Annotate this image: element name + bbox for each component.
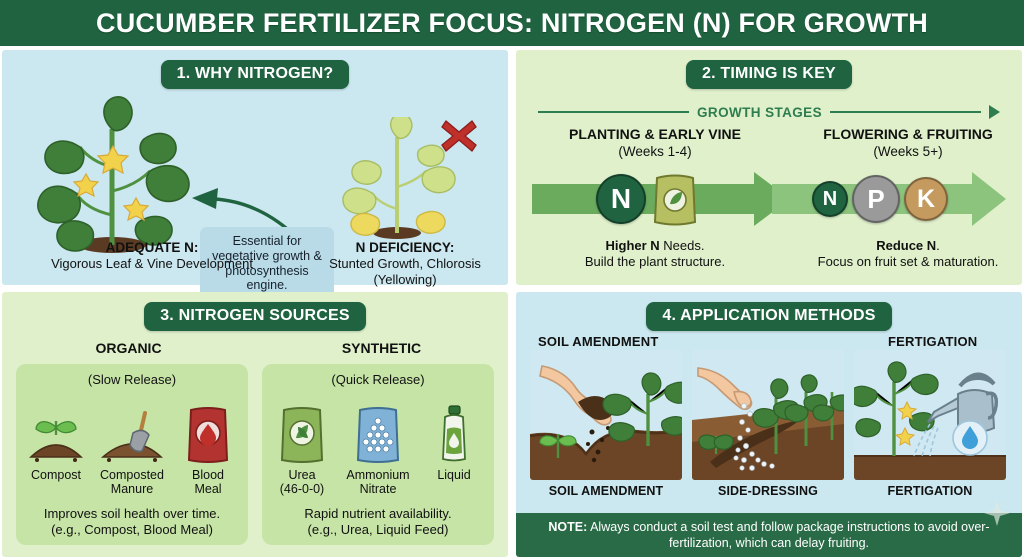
watering-can-fertigation-icon — [854, 350, 1006, 480]
organic-icon-cell-compost — [22, 405, 90, 463]
source-box-organic: (Slow Release) — [16, 364, 248, 545]
nutrient-circle-n-late: N — [812, 181, 848, 217]
red-x-icon — [440, 117, 478, 155]
panel4-heading: 4. APPLICATION METHODS — [646, 302, 891, 331]
organic-label-bloodmeal-sub: Meal — [174, 482, 242, 496]
panel4-heading-wrap: 4. APPLICATION METHODS — [516, 302, 1022, 331]
stage-heading-flowering: FLOWERING & FRUITING (Weeks 5+) — [794, 126, 1022, 160]
organic-label-bloodmeal-main: Blood — [174, 468, 242, 482]
organic-label-manure-sub: Manure — [98, 482, 166, 496]
caption-n-deficiency: N DEFICIENCY: Stunted Growth, Chlorosis … — [302, 240, 508, 287]
synthetic-note-line1: Rapid nutrient availability. — [268, 506, 488, 522]
source-boxes: (Slow Release) — [16, 364, 494, 545]
synthetic-icon-cell-liquid — [420, 405, 488, 463]
method-card-fertigation — [854, 350, 1006, 480]
footnote-early-bold: Higher N — [606, 238, 660, 253]
synthetic-label-ammonium: Ammonium Nitrate — [344, 468, 412, 497]
title-bar: CUCUMBER FERTILIZER FOCUS: NITROGEN (N) … — [0, 0, 1024, 46]
source-heading-synthetic: SYNTHETIC — [255, 340, 508, 357]
organic-icon-row — [22, 391, 242, 463]
organic-note-line2: (e.g., Compost, Blood Meal) — [22, 522, 242, 538]
note-text: NOTE: Always conduct a soil test and fol… — [526, 519, 1012, 551]
organic-label-manure-main: Composted — [98, 468, 166, 482]
panel-nitrogen-sources: 3. NITROGEN SOURCES ORGANIC SYNTHETIC (S… — [2, 292, 508, 557]
organic-label-compost: Compost — [22, 468, 90, 497]
nutrient-circle-n-early: N — [596, 174, 646, 224]
synthetic-note-line2: (e.g., Urea, Liquid Feed) — [268, 522, 488, 538]
axis-arrow-icon — [989, 105, 1000, 119]
synthetic-label-liquid: Liquid — [420, 468, 488, 497]
caption-adequate-n-desc: Vigorous Leaf & Vine Development — [2, 256, 302, 272]
caption-fertigation: FERTIGATION — [854, 484, 1006, 498]
source-synthetic-subtitle: (Quick Release) — [268, 372, 488, 387]
stage-early-weeks: (Weeks 1-4) — [516, 144, 794, 161]
panel1-illustration-stage: Essential for vegetative growth & photos… — [2, 89, 508, 247]
stage-early-title: PLANTING & EARLY VINE — [516, 126, 794, 144]
synthetic-label-urea-main: Urea — [268, 468, 336, 482]
source-organic-subtitle: (Slow Release) — [22, 372, 242, 387]
synthetic-icon-cell-urea — [268, 405, 336, 463]
footnote-flowering-rest: . — [936, 238, 940, 253]
manure-shovel-icon — [99, 405, 165, 463]
source-box-synthetic: (Quick Release) — [262, 364, 494, 545]
synthetic-label-ammonium-main: Ammonium — [344, 468, 412, 482]
hand-side-dressing-icon — [692, 350, 844, 480]
note-bar: NOTE: Always conduct a soil test and fol… — [516, 513, 1022, 557]
footnote-early: Higher N Needs. Build the plant structur… — [516, 238, 794, 271]
footnote-flowering: Reduce N. Focus on fruit set & maturatio… — [794, 238, 1022, 271]
fertilizer-bag-icon — [652, 172, 698, 226]
footnote-early-line1: Higher N Needs. — [516, 238, 794, 254]
footnote-flowering-bold: Reduce N — [876, 238, 936, 253]
blood-meal-bag-icon — [186, 405, 230, 463]
synthetic-label-urea-sub: (46-0-0) — [268, 482, 336, 496]
panel1-heading-wrap: 1. WHY NITROGEN? — [2, 60, 508, 89]
top-label-soil-amendment: SOIL AMENDMENT — [538, 334, 659, 349]
nutrient-circle-k: K — [904, 177, 948, 221]
liquid-feed-bottle-icon — [436, 405, 472, 463]
panel1-captions: ADEQUATE N: Vigorous Leaf & Vine Develop… — [2, 240, 508, 287]
panel-timing-is-key: 2. TIMING IS KEY GROWTH STAGES PLANTING … — [516, 50, 1022, 285]
synthetic-label-ammonium-sub: Nitrate — [344, 482, 412, 496]
panel3-heading: 3. NITROGEN SOURCES — [144, 302, 366, 331]
note-body: Always conduct a soil test and follow pa… — [587, 520, 989, 550]
source-group-headings: ORGANIC SYNTHETIC — [2, 340, 508, 357]
panel3-heading-wrap: 3. NITROGEN SOURCES — [2, 302, 508, 331]
caption-adequate-n-title: ADEQUATE N: — [2, 240, 302, 256]
application-method-cards — [530, 350, 1008, 480]
source-heading-organic: ORGANIC — [2, 340, 255, 357]
axis-line-right — [830, 111, 981, 114]
organic-note-line1: Improves soil health over time. — [22, 506, 242, 522]
stage-heading-early: PLANTING & EARLY VINE (Weeks 1-4) — [516, 126, 794, 160]
caption-soil-amendment: SOIL AMENDMENT — [530, 484, 682, 498]
ammonium-nitrate-bag-icon — [355, 405, 401, 463]
synthetic-icon-row — [268, 391, 488, 463]
note-label: NOTE: — [548, 520, 587, 534]
source-synthetic-title: SYNTHETIC — [255, 340, 508, 357]
nutrient-circle-p: P — [852, 175, 900, 223]
stage-flowering-weeks: (Weeks 5+) — [794, 144, 1022, 161]
caption-n-deficiency-desc: Stunted Growth, Chlorosis (Yellowing) — [302, 256, 508, 287]
sparkle-icon — [984, 500, 1010, 526]
top-label-fertigation: FERTIGATION — [888, 334, 977, 349]
application-method-captions: SOIL AMENDMENT SIDE-DRESSING FERTIGATION — [530, 484, 1008, 498]
organic-label-bloodmeal: Blood Meal — [174, 468, 242, 497]
npk-circles-row: N N P K — [516, 168, 1022, 230]
synthetic-note: Rapid nutrient availability. (e.g., Urea… — [268, 506, 488, 538]
urea-bag-icon — [279, 405, 325, 463]
footnote-early-rest: Needs. — [660, 238, 705, 253]
synthetic-label-liquid-main: Liquid — [420, 468, 488, 482]
synthetic-label-row: Urea (46-0-0) Ammonium Nitrate Liquid — [268, 468, 488, 497]
panel-why-nitrogen: 1. WHY NITROGEN? — [2, 50, 508, 285]
compost-sprout-icon — [25, 405, 87, 463]
organic-label-row: Compost Composted Manure Blood Meal — [22, 468, 242, 497]
caption-adequate-n: ADEQUATE N: Vigorous Leaf & Vine Develop… — [2, 240, 302, 287]
organic-icon-cell-manure — [98, 405, 166, 463]
footnote-flowering-line1: Reduce N. — [794, 238, 1022, 254]
growth-stages-label: GROWTH STAGES — [697, 105, 822, 120]
caption-side-dressing: SIDE-DRESSING — [692, 484, 844, 498]
source-organic-title: ORGANIC — [2, 340, 255, 357]
panel2-footnotes: Higher N Needs. Build the plant structur… — [516, 238, 1022, 271]
footnote-early-line2: Build the plant structure. — [516, 254, 794, 270]
organic-label-manure: Composted Manure — [98, 468, 166, 497]
synthetic-label-urea: Urea (46-0-0) — [268, 468, 336, 497]
hand-soil-amendment-icon — [530, 350, 682, 480]
organic-note: Improves soil health over time. (e.g., C… — [22, 506, 242, 538]
stage-headings: PLANTING & EARLY VINE (Weeks 1-4) FLOWER… — [516, 126, 1022, 160]
infographic-root: CUCUMBER FERTILIZER FOCUS: NITROGEN (N) … — [0, 0, 1024, 559]
organic-icon-cell-bloodmeal — [174, 405, 242, 463]
page-title: CUCUMBER FERTILIZER FOCUS: NITROGEN (N) … — [96, 8, 928, 39]
method-card-soil-amendment — [530, 350, 682, 480]
growth-stages-axis: GROWTH STAGES — [538, 102, 1000, 122]
footnote-flowering-line2: Focus on fruit set & maturation. — [794, 254, 1022, 270]
healthy-cucumber-plant-icon — [24, 95, 200, 253]
panel2-heading: 2. TIMING IS KEY — [686, 60, 852, 89]
caption-n-deficiency-title: N DEFICIENCY: — [302, 240, 508, 256]
stage-flowering-title: FLOWERING & FRUITING — [794, 126, 1022, 144]
organic-label-compost-main: Compost — [22, 468, 90, 482]
method-card-side-dressing — [692, 350, 844, 480]
panel2-heading-wrap: 2. TIMING IS KEY — [516, 60, 1022, 89]
axis-line-left — [538, 111, 689, 114]
panel1-heading: 1. WHY NITROGEN? — [161, 60, 350, 89]
synthetic-icon-cell-ammonium — [344, 405, 412, 463]
